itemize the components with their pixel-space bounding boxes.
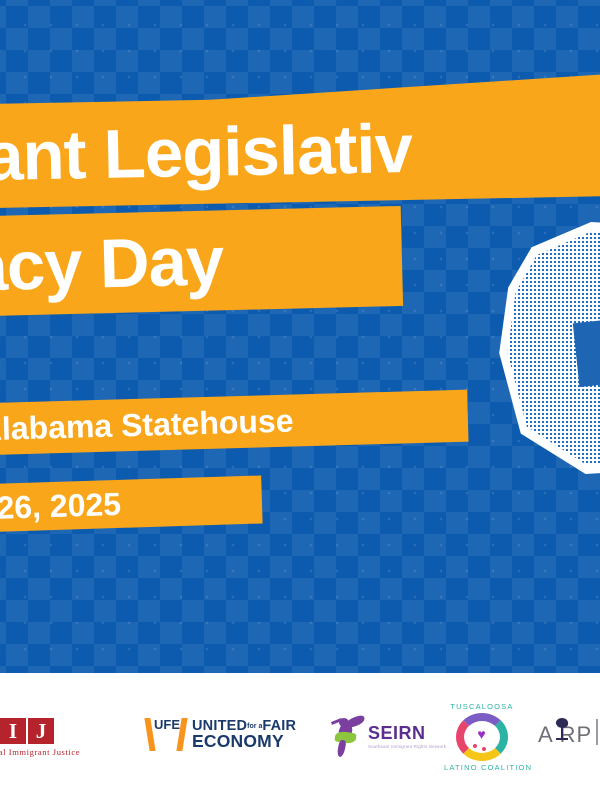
headline-line1-text: grant Legislativ [0, 108, 413, 196]
tlc-dot-1 [473, 744, 477, 748]
date-text: uary 26, 2025 [0, 485, 122, 528]
state-shield-graphic [492, 222, 600, 474]
ufe-wordmark: UNITEDfor aFAIR ECONOMY [192, 719, 296, 752]
aarp-mark-bar [556, 738, 568, 740]
seirn-wordmark: SEIRN [368, 723, 446, 744]
hummingbird-icon [326, 716, 366, 758]
headline-banner-line2: cacy Day [0, 206, 403, 316]
nijc-tagline: National Immigrant Justice [0, 747, 80, 757]
ufe-mark-icon: UFE [146, 718, 186, 752]
headline-line2-text: cacy Day [0, 221, 224, 307]
logo-aarp: A RP [538, 722, 592, 748]
logo-nijc: N I J National Immigrant Justice [0, 718, 54, 744]
tlc-dot-2 [482, 747, 486, 751]
ufe-wordmark-line2: ECONOMY [192, 733, 296, 751]
logo-tuscaloosa-latino-coalition: TUSCALOOSA ♥ LATINO COALITION [444, 702, 520, 778]
hummingbird-tail [336, 739, 346, 757]
seirn-tagline: Southeast Immigrant Rights Network [368, 744, 446, 751]
logo-united-for-a-fair-economy: UFE UNITEDfor aFAIR ECONOMY [146, 718, 296, 752]
date-banner: uary 26, 2025 [0, 475, 263, 532]
aarp-mark-icon [554, 718, 570, 740]
tlc-top-text: TUSCALOOSA [444, 702, 520, 711]
tlc-puzzle-ring-icon: ♥ [456, 713, 508, 761]
aarp-divider [596, 719, 598, 745]
nijc-letter-i: I [0, 718, 26, 744]
nijc-letter-boxes: N I J [0, 718, 54, 744]
seirn-wordmark-group: SEIRN Southeast Immigrant Rights Network [368, 723, 446, 751]
tlc-bottom-text: LATINO COALITION [444, 763, 520, 772]
heart-icon: ♥ [475, 728, 488, 740]
nijc-letter-j: J [28, 718, 54, 744]
event-flyer: grant Legislativ cacy Day RE: Alabama St… [0, 0, 600, 800]
ufe-for-a: for a [247, 723, 262, 730]
logo-seirn: SEIRN Southeast Immigrant Rights Network [326, 716, 446, 758]
headline-banner-line1: grant Legislativ [0, 92, 600, 208]
ufe-monogram: UFE [154, 719, 179, 752]
where-text: RE: Alabama Statehouse [0, 402, 294, 450]
